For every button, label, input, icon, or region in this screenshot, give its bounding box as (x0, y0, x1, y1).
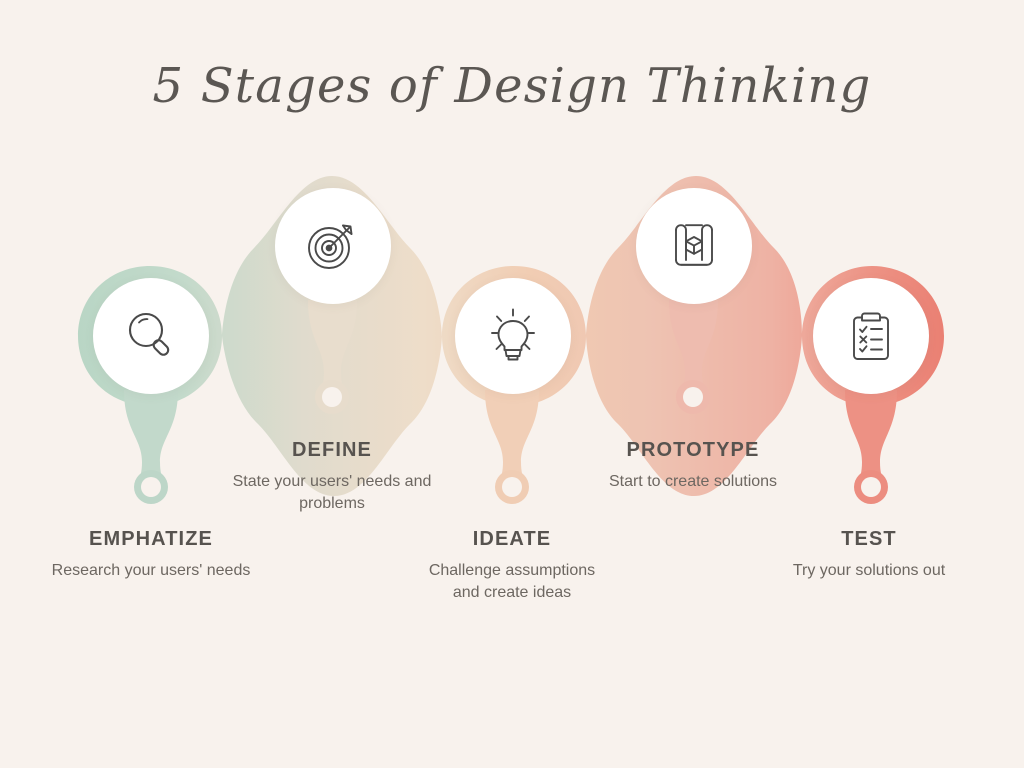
stage-3-description: Challenge assumptions and create ideas (427, 560, 597, 604)
stage-2-icon-disc[interactable] (275, 188, 391, 304)
stage-5-icon-disc[interactable] (813, 278, 929, 394)
stage-1-title: EMPHATIZE (41, 528, 261, 550)
tail-stage-3 (485, 390, 539, 504)
tail-stage-2 (308, 300, 357, 414)
tail-stage-4 (669, 300, 718, 414)
tail-stage-5 (845, 390, 897, 504)
infographic-canvas: 5 Stages of Design Thinking (0, 0, 1024, 768)
stage-2-description: State your users' needs and problems (232, 471, 432, 515)
target-arrow-icon (302, 215, 364, 277)
stage-4-title: PROTOTYPE (603, 439, 783, 461)
stage-1-label-block: EMPHATIZE Research your users' needs (41, 528, 261, 582)
stage-3-label-block: IDEATE Challenge assumptions and create … (427, 528, 597, 604)
stage-4-icon-disc[interactable] (636, 188, 752, 304)
stage-2-label-block: DEFINE State your users' needs and probl… (232, 439, 432, 515)
tail-stage-1 (124, 390, 178, 504)
magnifying-glass-icon (120, 305, 182, 367)
stage-3-title: IDEATE (427, 528, 597, 550)
stage-5-title: TEST (779, 528, 959, 550)
stage-5-description: Try your solutions out (779, 560, 959, 582)
blueprint-cube-icon (663, 215, 725, 277)
stage-3-icon-disc[interactable] (455, 278, 571, 394)
clipboard-checklist-icon (841, 305, 901, 367)
stage-1-description: Research your users' needs (41, 560, 261, 582)
stage-2-title: DEFINE (232, 439, 432, 461)
stage-5-label-block: TEST Try your solutions out (779, 528, 959, 582)
page-title: 5 Stages of Design Thinking (0, 58, 1024, 114)
stage-4-description: Start to create solutions (603, 471, 783, 493)
lightbulb-icon (483, 305, 543, 367)
stage-1-icon-disc[interactable] (93, 278, 209, 394)
stage-4-label-block: PROTOTYPE Start to create solutions (603, 439, 783, 493)
